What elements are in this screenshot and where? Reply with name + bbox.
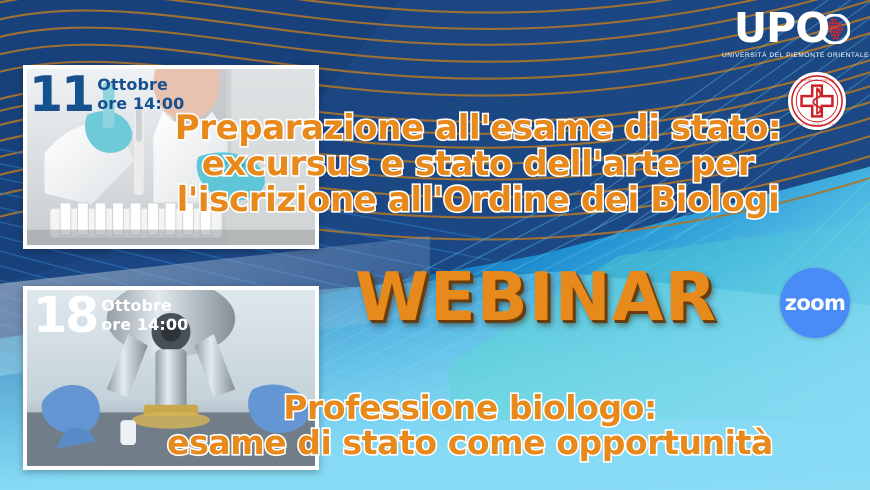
upo-wordmark: UPO xyxy=(722,8,862,49)
svg-text:PIEMONTE · LIGURIA · V. D'AOST: PIEMONTE · LIGURIA · V. D'AOSTA xyxy=(793,122,841,126)
svg-text:ORDINE DEI BIOLOGI: ORDINE DEI BIOLOGI xyxy=(799,78,835,82)
upo-subtitle: UNIVERSITÀ DEL PIEMONTE ORIENTALE xyxy=(722,52,862,59)
ordine-dei-biologi-seal: ORDINE DEI BIOLOGI PIEMONTE · LIGURIA · … xyxy=(788,72,846,130)
event-date-2: 18 Ottobre ore 14:00 xyxy=(33,292,188,340)
upo-logo: UPO xyxy=(722,8,862,59)
headline-top: Preparazione all'esame di stato: excursu… xyxy=(86,110,870,218)
event-day-1: 11 xyxy=(29,71,93,119)
event-month-2: Ottobre xyxy=(101,297,188,316)
event-day-2: 18 xyxy=(33,292,97,340)
upo-letters: UPO xyxy=(734,8,829,49)
ordine-seal-icon: ORDINE DEI BIOLOGI PIEMONTE · LIGURIA · … xyxy=(790,73,844,129)
zoom-logo[interactable]: zoom xyxy=(780,268,850,338)
event-month-1: Ottobre xyxy=(97,76,184,95)
headline-bottom: Professione biologo: esame di stato come… xyxy=(70,391,870,461)
upo-piedmont-map-icon xyxy=(820,14,850,44)
webinar-label: WEBINAR xyxy=(355,258,717,336)
webinar-poster: 11 Ottobre ore 14:00 xyxy=(0,0,870,490)
zoom-logo-text: zoom xyxy=(785,291,846,315)
event-time-2: ore 14:00 xyxy=(101,316,188,335)
